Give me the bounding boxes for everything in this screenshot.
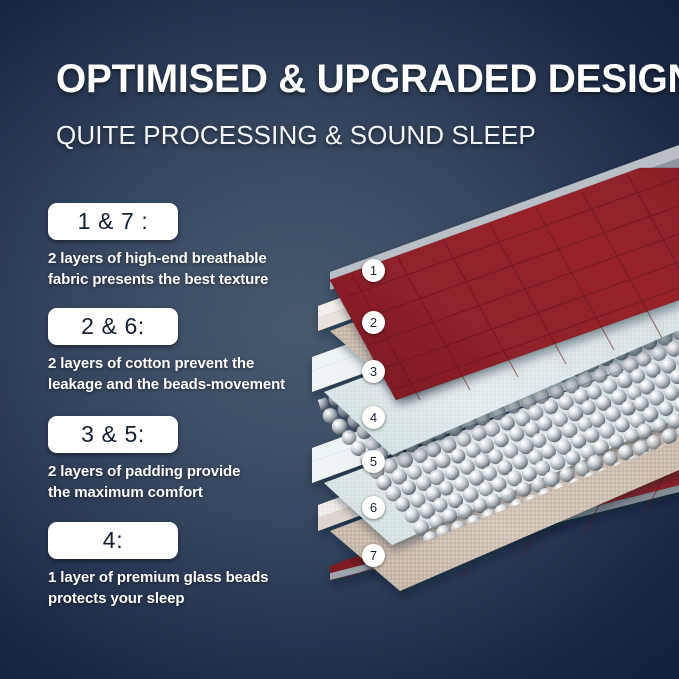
callout-label-pill: 4: <box>48 522 178 559</box>
layer-badge-7: 7 <box>362 544 385 567</box>
callout-4: 4:1 layer of premium glass beads protect… <box>48 522 268 610</box>
layer-badge-6: 6 <box>362 496 385 519</box>
callout-description: 2 layers of cotton prevent the leakage a… <box>48 354 285 395</box>
callout-label: 2 & 6: <box>81 313 145 339</box>
callout-label-pill: 3 & 5: <box>48 416 178 453</box>
layer-badge-number: 2 <box>370 316 377 329</box>
callout-description: 2 layers of padding provide the maximum … <box>48 462 240 503</box>
layer-badge-number: 1 <box>370 264 377 277</box>
layer-badge-4: 4 <box>362 406 385 429</box>
quilt-stitching <box>348 175 679 400</box>
callout-label: 1 & 7 : <box>78 208 149 234</box>
layer-badge-number: 3 <box>370 365 377 378</box>
callout-label: 3 & 5: <box>81 421 145 447</box>
layer-badge-3: 3 <box>362 360 385 383</box>
callout-2: 2 & 6:2 layers of cotton prevent the lea… <box>48 308 285 396</box>
callout-description: 1 layer of premium glass beads protects … <box>48 568 268 609</box>
callout-description: 2 layers of high-end breathable fabric p… <box>48 249 268 290</box>
page-title: OPTIMISED & UPGRADED DESIGN <box>56 58 638 100</box>
callout-3: 3 & 5:2 layers of padding provide the ma… <box>48 416 240 504</box>
layer-badge-number: 6 <box>370 501 377 514</box>
layer-badge-number: 7 <box>370 549 377 562</box>
page-subtitle: QUITE PROCESSING & SOUND SLEEP <box>56 120 656 151</box>
layer-badge-2: 2 <box>362 311 385 334</box>
layer-badge-number: 5 <box>370 455 377 468</box>
callout-label-pill: 1 & 7 : <box>48 203 178 240</box>
product-infographic: OPTIMISED & UPGRADED DESIGN QUITE PROCES… <box>0 0 679 679</box>
callout-1: 1 & 7 :2 layers of high-end breathable f… <box>48 203 268 291</box>
layer-badge-number: 4 <box>370 411 377 424</box>
layer-badge-1: 1 <box>362 259 385 282</box>
layer-badge-5: 5 <box>362 450 385 473</box>
callout-label: 4: <box>103 527 123 553</box>
callout-label-pill: 2 & 6: <box>48 308 178 345</box>
